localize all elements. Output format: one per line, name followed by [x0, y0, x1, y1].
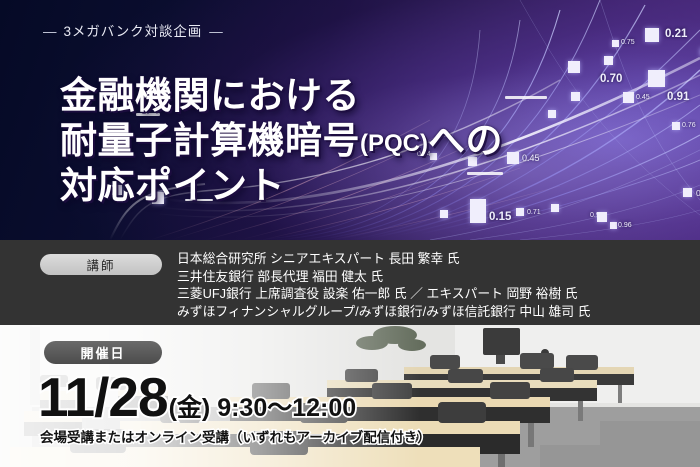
data-value-label: 0.15 [489, 211, 511, 223]
event-date-day: 11/28 [38, 370, 168, 425]
title-line-1: 金融機関における [60, 73, 503, 118]
hero-banner: 0.21 0.70 0.91 0.65 0.15 0.45 0.75 0.76 … [0, 0, 700, 240]
data-square [548, 110, 556, 118]
data-square [610, 222, 617, 229]
data-value-label: 0.21 [665, 28, 687, 40]
kicker-dash-left: — [43, 24, 57, 39]
date-badge: 開催日 [44, 341, 162, 364]
data-square [568, 61, 580, 73]
title-line-2-main: 耐量子計算機暗号 [60, 120, 360, 161]
attendance-caption: 会場受講またはオンライン受講（いずれもアーカイブ配信付き） [40, 426, 431, 446]
data-value-label: 0.65 [696, 188, 700, 198]
speaker-list: 日本総合研究所 シニアエキスパート 長田 繁幸 氏 三井住友銀行 部長代理 福田… [177, 250, 687, 320]
hero-kicker: —3メガバンク対談企画— [36, 20, 230, 40]
speaker-line: 三井住友銀行 部長代理 福田 健太 氏 [177, 268, 687, 286]
kicker-dash-right: — [209, 24, 223, 39]
data-value-label: 0.75 [621, 39, 635, 46]
data-square [645, 28, 659, 42]
data-value-label: 0.70 [600, 73, 622, 85]
data-value-label: 0.96 [618, 222, 632, 229]
data-square [507, 152, 519, 164]
data-value-label: 0.76 [682, 122, 696, 129]
data-square [597, 212, 607, 222]
speaker-line: みずほフィナンシャルグループ/みずほ銀行/みずほ信託銀行 中山 雄司 氏 [177, 303, 687, 321]
data-square [672, 122, 680, 130]
data-value-label: 0.91 [667, 91, 689, 103]
event-date: 11/28 (金) 9:30〜12:00 [38, 370, 356, 425]
data-square [648, 70, 665, 87]
speaker-line: 日本総合研究所 シニアエキスパート 長田 繁幸 氏 [177, 250, 687, 268]
lecturer-badge-label: 講師 [86, 255, 115, 274]
data-bar [505, 96, 547, 99]
data-square [516, 208, 524, 216]
title-pqc-abbr: (PQC) [360, 130, 428, 157]
data-square [623, 92, 634, 103]
data-square [551, 204, 559, 212]
data-value-label: 0.45 [522, 153, 540, 163]
date-badge-label: 開催日 [80, 343, 125, 362]
lecturer-badge: 講師 [40, 254, 162, 275]
data-square [612, 40, 619, 47]
data-square [604, 56, 613, 65]
data-square [440, 210, 448, 218]
title-line-2-tail: への [428, 120, 503, 161]
data-square [571, 92, 580, 101]
speaker-line: 三菱UFJ銀行 上席調査役 設楽 佑一郎 氏 ／ エキスパート 岡野 裕樹 氏 [177, 285, 687, 303]
event-date-weekday-time: (金) 9:30〜12:00 [169, 396, 357, 421]
data-value-label: 0.71 [527, 209, 541, 216]
title-line-2: 耐量子計算機暗号(PQC)への [60, 118, 503, 163]
data-square [683, 188, 692, 197]
kicker-text: 3メガバンク対談企画 [64, 24, 203, 39]
data-value-label: 0.45 [636, 94, 650, 101]
seminar-poster: 0.21 0.70 0.91 0.65 0.15 0.45 0.75 0.76 … [0, 0, 700, 467]
title-line-3: 対応ポイント [60, 163, 503, 208]
page-title: 金融機関における 耐量子計算機暗号(PQC)への 対応ポイント [60, 73, 503, 208]
